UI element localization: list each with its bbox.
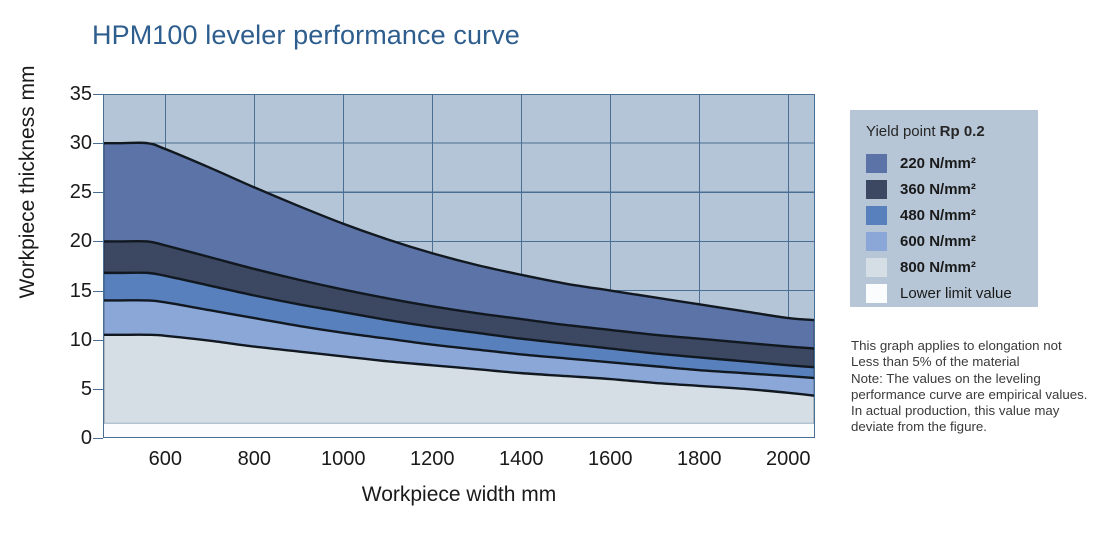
- page-title: HPM100 leveler performance curve: [92, 20, 520, 51]
- legend-title-plain: Yield point: [866, 123, 940, 140]
- y-tick-label: 10: [52, 329, 92, 352]
- legend-item-label: 600 N/mm²: [900, 233, 976, 250]
- legend-swatch-icon: [866, 258, 887, 277]
- legend-item-label: 800 N/mm²: [900, 259, 976, 276]
- y-tick-mark: [93, 389, 103, 390]
- y-tick-mark: [93, 143, 103, 144]
- x-tick-label: 1600: [588, 448, 633, 471]
- y-tick-mark: [93, 192, 103, 193]
- legend-item[interactable]: 600 N/mm²: [866, 228, 1036, 254]
- legend-item-label: 360 N/mm²: [900, 181, 976, 198]
- x-axis-title: Workpiece width mm: [103, 483, 815, 507]
- legend-item-list: 220 N/mm²360 N/mm²480 N/mm²600 N/mm²800 …: [866, 150, 1036, 306]
- chart-root: HPM100 leveler performance curve 3530252…: [0, 0, 1120, 538]
- legend-item[interactable]: 360 N/mm²: [866, 176, 1036, 202]
- plot-area: [103, 94, 815, 438]
- footnote: This graph applies to elongation notLess…: [851, 338, 1101, 436]
- y-tick-mark: [93, 241, 103, 242]
- x-tick-label: 1400: [499, 448, 544, 471]
- x-tick-label: 800: [238, 448, 271, 471]
- x-axis-ticks: 600800100012001400160018002000: [103, 448, 815, 474]
- legend-item-label: 480 N/mm²: [900, 207, 976, 224]
- y-tick-mark: [93, 340, 103, 341]
- footnote-line: Note: The values on the leveling: [851, 371, 1101, 387]
- y-tick-mark: [93, 94, 103, 95]
- y-tick-label: 30: [52, 132, 92, 155]
- x-tick-label: 2000: [766, 448, 811, 471]
- y-axis-ticks: 35302520151050: [40, 94, 92, 438]
- legend: Yield point Rp 0.2 220 N/mm²360 N/mm²480…: [850, 110, 1038, 307]
- y-tick-mark: [93, 291, 103, 292]
- y-axis-title: Workpiece thickness mm: [16, 32, 40, 332]
- legend-swatch-icon: [866, 180, 887, 199]
- legend-title: Yield point Rp 0.2: [866, 123, 985, 140]
- legend-swatch-icon: [866, 206, 887, 225]
- x-tick-label: 1200: [410, 448, 455, 471]
- legend-swatch-icon: [866, 232, 887, 251]
- footnote-line: deviate from the figure.: [851, 419, 1101, 435]
- y-tick-mark: [93, 438, 103, 439]
- y-tick-label: 35: [52, 83, 92, 106]
- y-tick-label: 25: [52, 181, 92, 204]
- legend-item[interactable]: 800 N/mm²: [866, 254, 1036, 280]
- legend-item-label: Lower limit value: [900, 285, 1012, 302]
- legend-title-bold: Rp 0.2: [940, 123, 985, 140]
- footnote-line: In actual production, this value may: [851, 403, 1101, 419]
- band-lower-limit-value: [103, 423, 815, 438]
- performance-curve-svg: [103, 94, 815, 438]
- legend-item[interactable]: Lower limit value: [866, 280, 1036, 306]
- legend-swatch-icon: [866, 154, 887, 173]
- legend-item[interactable]: 480 N/mm²: [866, 202, 1036, 228]
- y-tick-label: 15: [52, 280, 92, 303]
- x-tick-label: 600: [149, 448, 182, 471]
- y-tick-label: 0: [52, 427, 92, 450]
- legend-swatch-icon: [866, 284, 887, 303]
- footnote-line: This graph applies to elongation not: [851, 338, 1101, 354]
- x-tick-label: 1000: [321, 448, 366, 471]
- x-tick-label: 1800: [677, 448, 722, 471]
- legend-item[interactable]: 220 N/mm²: [866, 150, 1036, 176]
- legend-item-label: 220 N/mm²: [900, 155, 976, 172]
- footnote-line: performance curve are empirical values.: [851, 387, 1101, 403]
- y-tick-label: 20: [52, 230, 92, 253]
- footnote-line: Less than 5% of the material: [851, 354, 1101, 370]
- y-tick-label: 5: [52, 378, 92, 401]
